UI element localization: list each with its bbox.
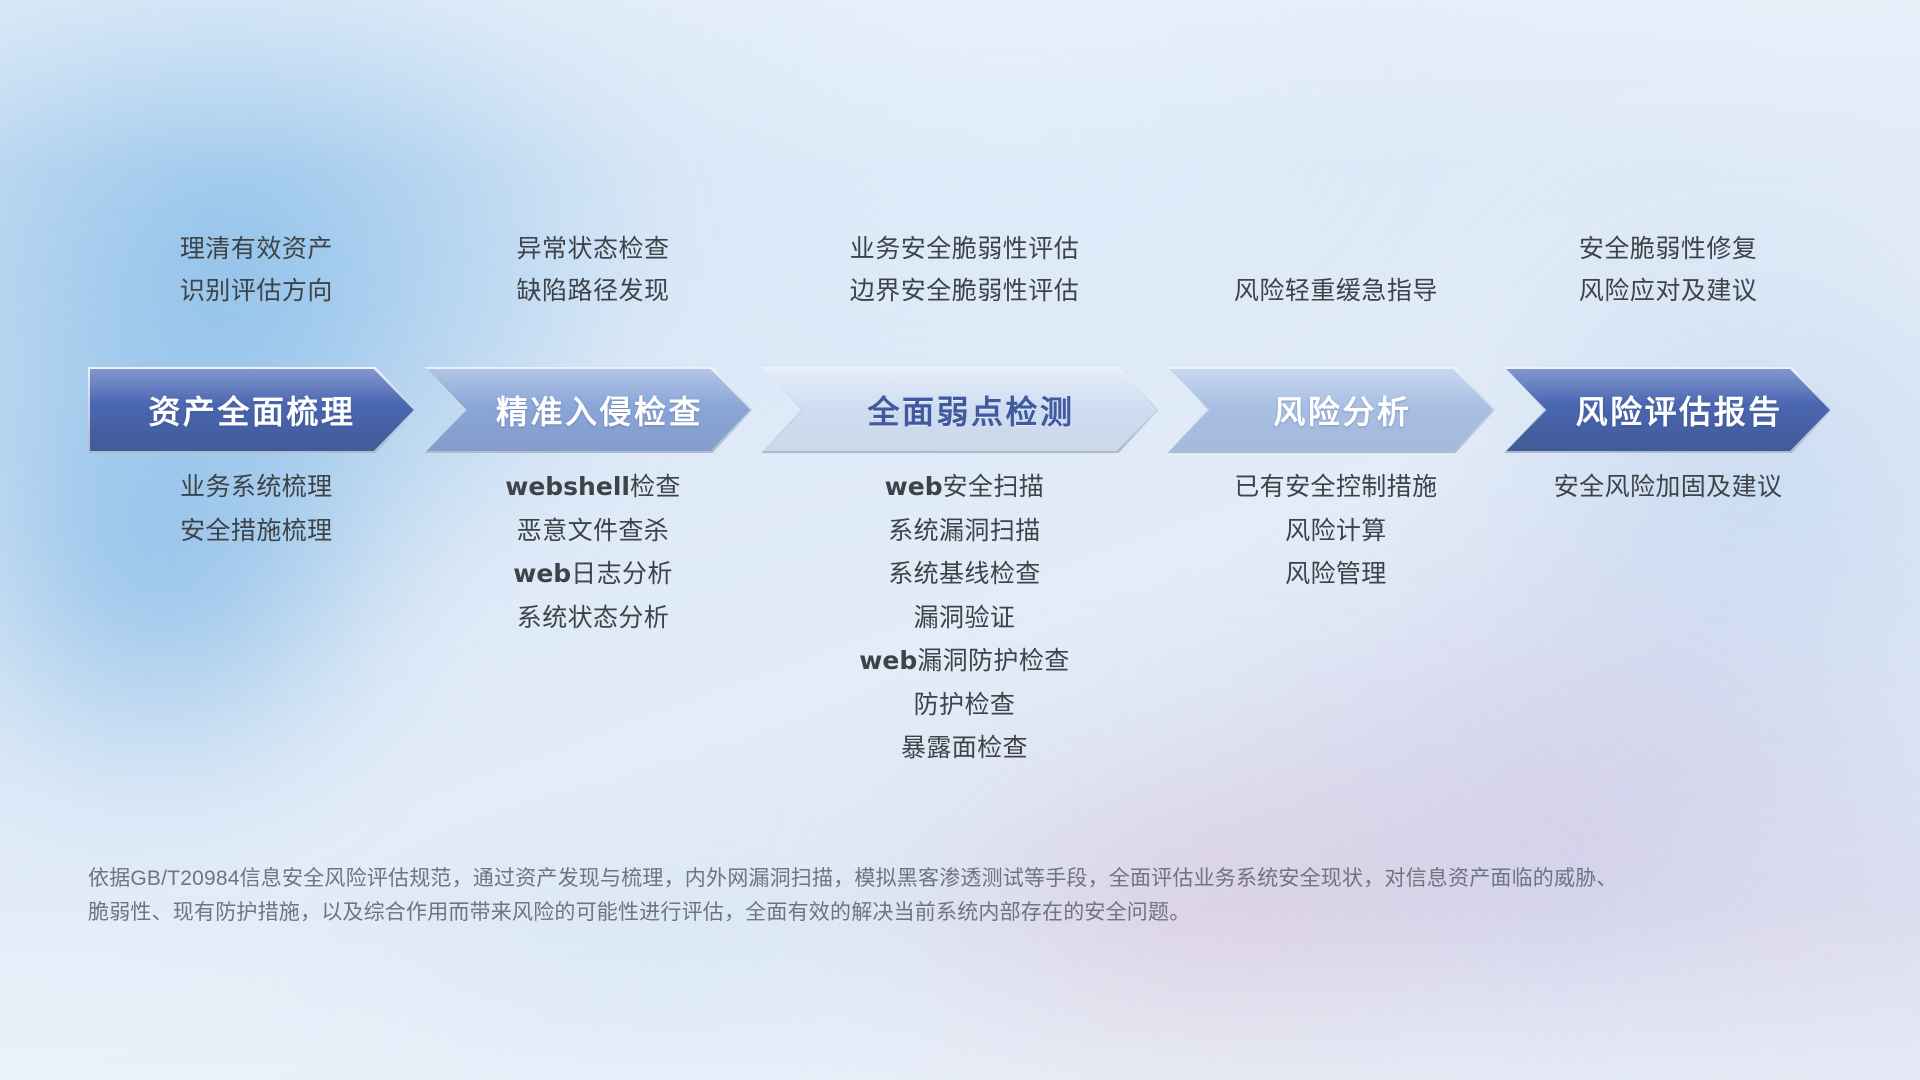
stage-item: web安全扫描 <box>761 470 1167 505</box>
stage-item: 恶意文件查杀 <box>425 514 762 549</box>
items-asset-inventory: 业务系统梳理安全措施梳理 <box>88 470 425 548</box>
stage-item: webshell检查 <box>425 470 762 505</box>
top-labels-risk-report: 安全脆弱性修复风险应对及建议 <box>1504 232 1832 309</box>
top-labels-intrusion-check: 异常状态检查缺陷路径发现 <box>425 232 762 309</box>
process-stage-risk-report[interactable]: 风险评估报告 <box>1504 367 1832 453</box>
process-stage-weakness-detection[interactable]: 全面弱点检测 <box>761 367 1158 453</box>
items-intrusion-check: webshell检查恶意文件查杀web日志分析系统状态分析 <box>425 470 762 635</box>
top-label: 识别评估方向 <box>88 274 425 310</box>
top-label: 风险应对及建议 <box>1504 274 1832 310</box>
process-stage-risk-analysis[interactable]: 风险分析 <box>1168 367 1496 453</box>
stage-item: 安全措施梳理 <box>88 514 425 549</box>
item-cjk-suffix: 检查 <box>630 473 681 501</box>
stage-item: 防护检查 <box>761 688 1167 723</box>
item-cjk-suffix: 安全扫描 <box>943 473 1045 501</box>
stage-item: 系统状态分析 <box>425 601 762 636</box>
item-cjk-suffix: 日志分析 <box>571 560 673 588</box>
items-risk-report: 安全风险加固及建议 <box>1504 470 1832 505</box>
stage-title: 精准入侵检查 <box>496 387 703 433</box>
footer-description: 依据GB/T20984信息安全风险评估规范，通过资产发现与梳理，内外网漏洞扫描，… <box>88 862 1618 930</box>
item-cjk-suffix: 漏洞防护检查 <box>917 647 1069 675</box>
stage-title: 全面弱点检测 <box>867 387 1074 433</box>
stage-item: web漏洞防护检查 <box>761 644 1167 679</box>
items-risk-analysis: 已有安全控制措施风险计算风险管理 <box>1168 470 1505 592</box>
top-label: 安全脆弱性修复 <box>1504 232 1832 268</box>
top-labels-asset-inventory: 理清有效资产识别评估方向 <box>88 232 425 309</box>
top-labels-risk-analysis: 风险轻重缓急指导 <box>1168 274 1505 310</box>
stage-item: web日志分析 <box>425 557 762 592</box>
item-latin-prefix: web <box>513 559 571 588</box>
items-weakness-detection: web安全扫描系统漏洞扫描系统基线检查漏洞验证web漏洞防护检查防护检查暴露面检… <box>761 470 1167 766</box>
process-diagram: 理清有效资产识别评估方向异常状态检查缺陷路径发现业务安全脆弱性评估边界安全脆弱性… <box>0 0 1920 1080</box>
top-label: 异常状态检查 <box>425 232 762 268</box>
stage-item: 风险管理 <box>1168 557 1505 592</box>
stage-item: 业务系统梳理 <box>88 470 425 505</box>
stage-title: 风险评估报告 <box>1576 387 1783 433</box>
stage-item: 漏洞验证 <box>761 601 1167 636</box>
process-stage-asset-inventory[interactable]: 资产全面梳理 <box>88 367 416 453</box>
process-stage-intrusion-check[interactable]: 精准入侵检查 <box>425 367 753 453</box>
stage-item: 已有安全控制措施 <box>1168 470 1505 505</box>
stage-item: 风险计算 <box>1168 514 1505 549</box>
stage-item: 安全风险加固及建议 <box>1504 470 1832 505</box>
stage-item: 暴露面检查 <box>761 731 1167 766</box>
top-label: 风险轻重缓急指导 <box>1168 274 1505 310</box>
bottom-list-row: 业务系统梳理安全措施梳理webshell检查恶意文件查杀web日志分析系统状态分… <box>88 470 1832 766</box>
item-latin-prefix: web <box>859 646 917 675</box>
top-label: 理清有效资产 <box>88 232 425 268</box>
top-label: 业务安全脆弱性评估 <box>761 232 1167 268</box>
stage-item: 系统漏洞扫描 <box>761 514 1167 549</box>
stage-title: 资产全面梳理 <box>148 387 355 433</box>
top-label: 缺陷路径发现 <box>425 274 762 310</box>
top-label: 边界安全脆弱性评估 <box>761 274 1167 310</box>
chevron-band: 资产全面梳理精准入侵检查全面弱点检测风险分析风险评估报告 <box>88 367 1832 453</box>
top-labels-weakness-detection: 业务安全脆弱性评估边界安全脆弱性评估 <box>761 232 1167 309</box>
footer-paragraph: 依据GB/T20984信息安全风险评估规范，通过资产发现与梳理，内外网漏洞扫描，… <box>88 862 1618 930</box>
stage-item: 系统基线检查 <box>761 557 1167 592</box>
item-latin-prefix: web <box>885 472 943 501</box>
stage-title: 风险分析 <box>1273 387 1411 433</box>
item-latin-prefix: webshell <box>505 472 630 501</box>
top-label-row: 理清有效资产识别评估方向异常状态检查缺陷路径发现业务安全脆弱性评估边界安全脆弱性… <box>88 232 1832 309</box>
